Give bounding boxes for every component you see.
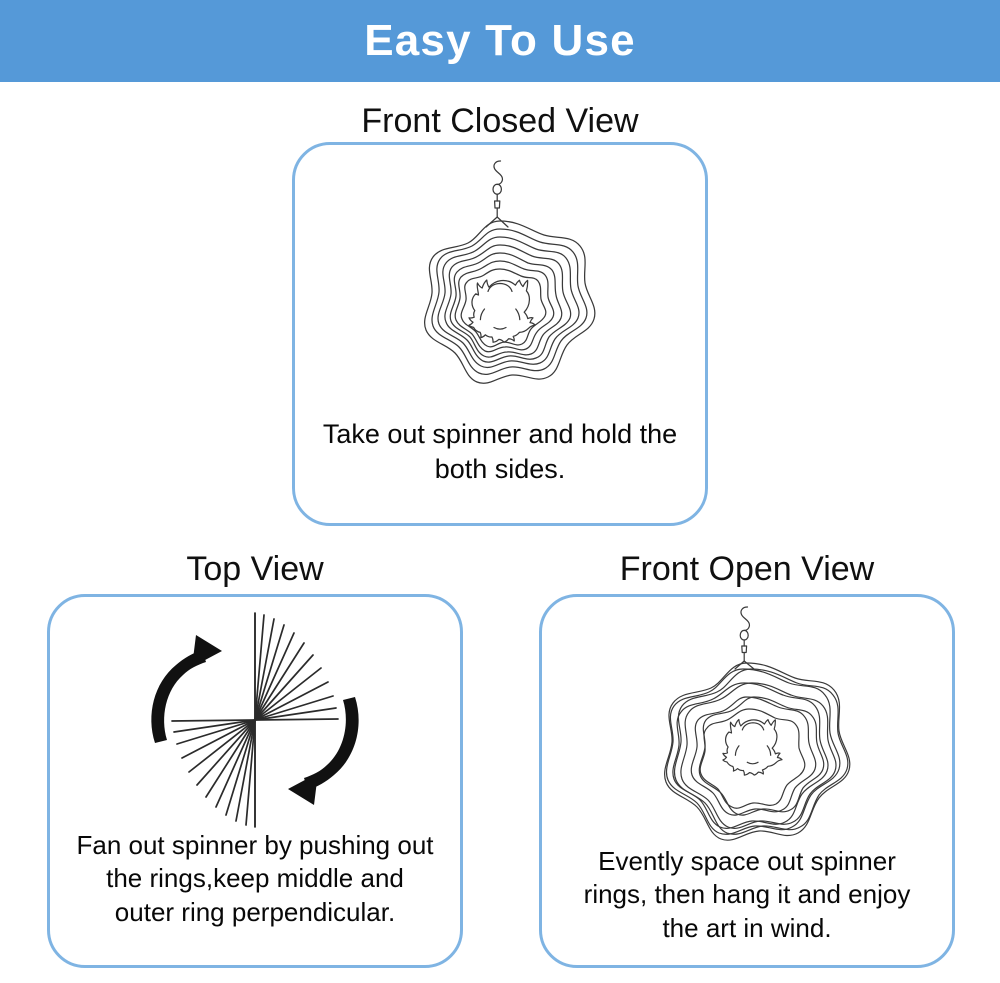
card-top-view: Fan out spinner by pushing out the rings… xyxy=(47,594,463,968)
section-title-front-open: Front Open View xyxy=(539,552,955,586)
instruction-infographic: Easy To Use Front Closed View xyxy=(0,0,1000,983)
figure-top-view xyxy=(50,597,460,829)
card-front-open-view: Evently space out spinner rings, then ha… xyxy=(539,594,955,968)
section-title-top-view: Top View xyxy=(47,552,463,586)
wind-spinner-open-icon xyxy=(604,599,890,845)
caption-front-closed: Take out spinner and hold the both sides… xyxy=(295,417,705,486)
caption-front-open: Evently space out spinner rings, then ha… xyxy=(542,845,952,945)
fan-lines-lower-left xyxy=(172,720,255,827)
card-front-closed-view: Take out spinner and hold the both sides… xyxy=(292,142,708,526)
section-title-front-closed: Front Closed View xyxy=(292,104,708,138)
wind-spinner-closed-icon xyxy=(360,151,640,415)
fan-out-rotation-diagram-icon xyxy=(110,607,400,829)
header-banner: Easy To Use xyxy=(0,0,1000,82)
caption-top-view: Fan out spinner by pushing out the rings… xyxy=(50,829,460,929)
figure-front-open xyxy=(542,597,952,845)
page-title: Easy To Use xyxy=(364,19,636,63)
fan-lines-upper-right xyxy=(255,613,338,720)
figure-front-closed xyxy=(295,145,705,415)
